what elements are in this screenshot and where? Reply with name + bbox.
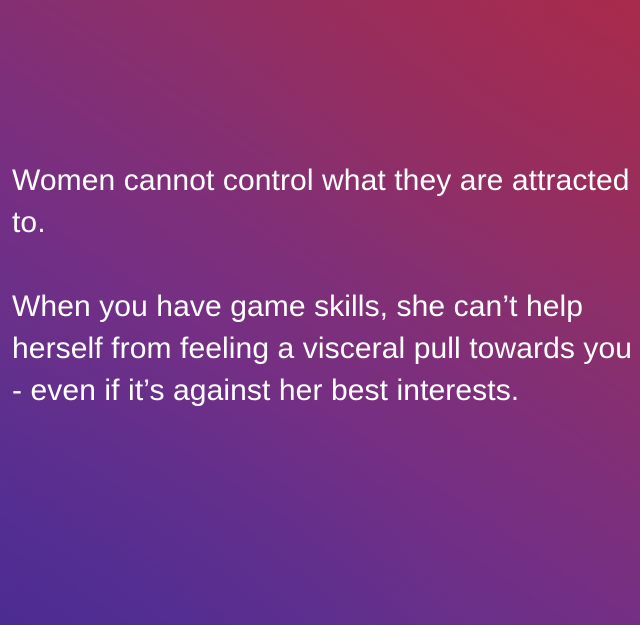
paragraph-spacer <box>12 244 636 286</box>
quote-paragraph-first: Women cannot control what they are attra… <box>12 160 636 244</box>
quote-text-block: Women cannot control what they are attra… <box>12 160 636 412</box>
quote-paragraph-second: When you have game skills, she can’t hel… <box>12 286 636 412</box>
quote-card: Women cannot control what they are attra… <box>0 0 640 625</box>
